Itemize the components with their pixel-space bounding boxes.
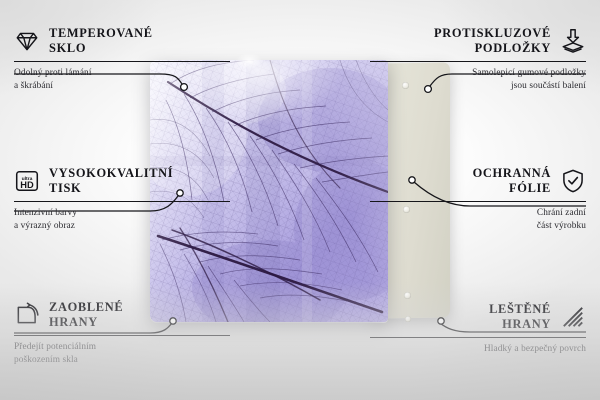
feature-title: LEŠTĚNÉ HRANY [489, 302, 551, 332]
icon-label-hd: HD [20, 180, 34, 190]
divider [14, 335, 230, 336]
feature-title: TEMPEROVANÉ SKLO [49, 26, 153, 56]
rubber-pad [404, 292, 411, 299]
subtitle-line-1: Samolepicí gumové podložky [370, 67, 586, 80]
subtitle-line-1: Chrání zadní [370, 207, 586, 220]
press-pad-icon [560, 28, 586, 54]
title-line-2: SKLO [49, 41, 153, 56]
feature-header: ZAOBLENÉ HRANY [14, 300, 230, 330]
feature-hd-print: ultra HD VYSOKOKVALITNÍ TISK Intenzivní … [14, 166, 230, 234]
subtitle-line-1: Odolný proti lámání [14, 67, 230, 80]
feature-subtitle: Odolný proti lámání a škrábání [14, 67, 230, 93]
title-line-1: VYSOKOKVALITNÍ [49, 166, 173, 181]
feature-header: PROTISKLUZOVÉ PODLOŽKY [370, 26, 586, 56]
feature-title: ZAOBLENÉ HRANY [49, 300, 123, 330]
divider [370, 337, 586, 338]
subtitle-line-2: a škrábání [14, 80, 230, 93]
feature-rounded-edges: ZAOBLENÉ HRANY Předejít potenciálním poš… [14, 300, 230, 368]
title-line-1: ZAOBLENÉ [49, 300, 123, 315]
subtitle-line-2: jsou součástí balení [370, 80, 586, 93]
feature-subtitle: Intenzivní barvy a výrazný obraz [14, 207, 230, 233]
feature-protective-foil: OCHRANNÁ FÓLIE Chrání zadní část výrobku [370, 166, 586, 234]
feature-subtitle: Hladký a bezpečný povrch [370, 343, 586, 356]
title-line-1: TEMPEROVANÉ [49, 26, 153, 41]
feature-title: OCHRANNÁ FÓLIE [473, 166, 551, 196]
divider [370, 61, 586, 62]
divider [14, 61, 230, 62]
subtitle-line-2: a výrazný obraz [14, 220, 230, 233]
title-line-2: HRANY [502, 317, 551, 332]
title-line-1: OCHRANNÁ [473, 166, 551, 181]
subtitle-line-1: Intenzivní barvy [14, 207, 230, 220]
feature-header: TEMPEROVANÉ SKLO [14, 26, 230, 56]
title-line-1: PROTISKLUZOVÉ [434, 26, 551, 41]
feature-header: ultra HD VYSOKOKVALITNÍ TISK [14, 166, 230, 196]
shield-check-icon [560, 168, 586, 194]
feature-subtitle: Samolepicí gumové podložky jsou součástí… [370, 67, 586, 93]
title-line-2: HRANY [49, 315, 123, 330]
ultra-hd-icon: ultra HD [14, 168, 40, 194]
subtitle-line-1: Hladký a bezpečný povrch [370, 343, 586, 356]
subtitle-line-2: poškozením skla [14, 354, 230, 367]
infographic-canvas: TEMPEROVANÉ SKLO Odolný proti lámání a š… [0, 0, 600, 400]
subtitle-line-1: Předejít potenciálním [14, 341, 230, 354]
feature-subtitle: Chrání zadní část výrobku [370, 207, 586, 233]
divider [14, 201, 230, 202]
divider [370, 201, 586, 202]
hatch-triangle-icon [560, 304, 586, 330]
diamond-icon [14, 28, 40, 54]
feature-subtitle: Předejít potenciálním poškozením skla [14, 341, 230, 367]
title-line-2: FÓLIE [509, 181, 551, 196]
subtitle-line-2: část výrobku [370, 220, 586, 233]
feature-title: PROTISKLUZOVÉ PODLOŽKY [434, 26, 551, 56]
feature-tempered-glass: TEMPEROVANÉ SKLO Odolný proti lámání a š… [14, 26, 230, 94]
feature-title: VYSOKOKVALITNÍ TISK [49, 166, 173, 196]
feature-anti-slip-pads: PROTISKLUZOVÉ PODLOŽKY Samolepicí gumové… [370, 26, 586, 94]
title-line-2: PODLOŽKY [475, 41, 551, 56]
feature-polished-edges: LEŠTĚNÉ HRANY Hladký a bezpečný povrch [370, 302, 586, 356]
rounded-corner-icon [14, 302, 40, 328]
feature-header: LEŠTĚNÉ HRANY [370, 302, 586, 332]
title-line-1: LEŠTĚNÉ [489, 302, 551, 317]
feature-header: OCHRANNÁ FÓLIE [370, 166, 586, 196]
title-line-2: TISK [49, 181, 173, 196]
